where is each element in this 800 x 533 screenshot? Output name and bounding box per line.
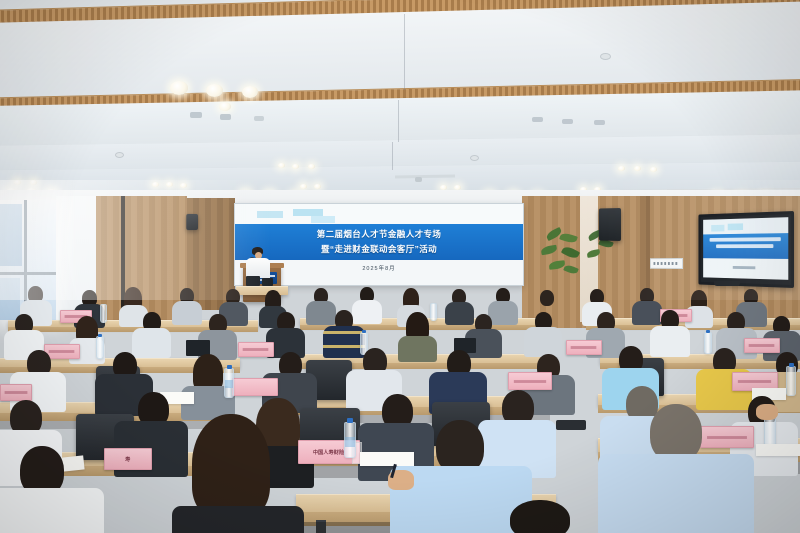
side-monitor-accent bbox=[711, 225, 724, 232]
water-bottle bbox=[96, 336, 104, 359]
desk-placard-text: 中国人寿财险 bbox=[313, 448, 344, 456]
ceiling-air-vent bbox=[254, 116, 264, 121]
ceiling-downlight bbox=[206, 84, 223, 97]
water-bottle bbox=[430, 303, 437, 321]
ceiling-downlight bbox=[30, 180, 37, 185]
back-table-monitor bbox=[262, 278, 273, 286]
window-frame bbox=[0, 272, 56, 275]
window-glass-tint bbox=[0, 204, 22, 266]
ceiling-downlight bbox=[170, 81, 188, 95]
ceiling-downlight bbox=[166, 182, 173, 187]
side-monitor-title-line2 bbox=[716, 244, 773, 248]
ceiling-downlight bbox=[152, 182, 159, 187]
ceiling-air-vent bbox=[220, 114, 231, 120]
desk-placard bbox=[238, 342, 274, 357]
smoke-detector-icon bbox=[115, 152, 124, 158]
side-monitor-accent bbox=[728, 223, 743, 230]
conference-room-photo: 第二届烟台人才节金融人才专场 暨“走进财金联动会客厅”活动 2025年8月 bbox=[0, 0, 800, 533]
back-table-monitor bbox=[246, 276, 260, 286]
ceiling-downlight bbox=[300, 184, 307, 189]
side-monitor-stand bbox=[714, 281, 740, 286]
screen-accent-block bbox=[257, 211, 283, 218]
ceiling-air-vent bbox=[594, 120, 605, 125]
wall-sign[interactable] bbox=[650, 258, 683, 269]
ceiling-air-vent bbox=[190, 112, 202, 118]
smoke-detector-icon bbox=[470, 155, 479, 161]
ceiling-seam-3 bbox=[392, 142, 393, 170]
desk-placard: 寿 bbox=[104, 448, 152, 470]
desk-placard bbox=[0, 384, 32, 401]
water-bottle bbox=[100, 304, 107, 323]
potted-plant-right bbox=[540, 228, 584, 290]
desk-placard bbox=[508, 372, 552, 390]
document-paper bbox=[360, 452, 414, 466]
ceiling-downlight bbox=[308, 164, 315, 169]
ceiling-downlight bbox=[180, 183, 187, 188]
document-paper bbox=[756, 444, 800, 456]
desk-placard bbox=[744, 338, 780, 353]
ceiling-downlight bbox=[618, 166, 625, 171]
desk-placard bbox=[232, 378, 278, 396]
wall-speaker-left bbox=[186, 214, 198, 230]
ceiling-downlight bbox=[219, 102, 231, 111]
desk-placard bbox=[700, 426, 754, 448]
smoke-detector-icon bbox=[600, 53, 611, 60]
presenter-body bbox=[246, 258, 270, 278]
side-monitor[interactable] bbox=[698, 211, 794, 288]
screen-title-band: 第二届烟台人才节金融人才专场 暨“走进财金联动会客厅”活动 bbox=[235, 224, 523, 260]
side-monitor-content bbox=[703, 217, 788, 280]
side-monitor-title-line1 bbox=[710, 237, 781, 242]
back-side-table bbox=[236, 286, 288, 295]
screen-title-line2: 暨“走进财金联动会客厅”活动 bbox=[235, 242, 523, 257]
screen-accent-block bbox=[311, 216, 335, 223]
water-bottle bbox=[786, 366, 796, 396]
ceiling-downlight bbox=[292, 164, 299, 169]
screen-accent-block bbox=[293, 209, 323, 216]
projector-nozzle bbox=[415, 177, 422, 182]
wall-sign-text bbox=[654, 262, 680, 265]
ceiling-downlight bbox=[14, 180, 21, 185]
chair-armrest bbox=[556, 420, 586, 430]
ceiling-air-vent bbox=[532, 117, 543, 122]
water-bottle bbox=[704, 332, 712, 354]
ceiling-air-vent bbox=[562, 119, 573, 124]
ceiling-downlight bbox=[242, 86, 258, 98]
water-bottle bbox=[344, 422, 356, 458]
water-bottle bbox=[224, 368, 234, 398]
ceiling-seam-1 bbox=[404, 14, 405, 90]
screen-title-line1: 第二届烟台人才节金融人才专场 bbox=[235, 227, 523, 242]
ceiling-downlight bbox=[314, 184, 321, 189]
wall-speaker-right bbox=[599, 208, 621, 241]
ceiling-seam-2 bbox=[398, 100, 399, 142]
ceiling-downlight bbox=[650, 167, 657, 172]
window-glass-tint bbox=[0, 278, 20, 320]
desk-placard-text: 寿 bbox=[125, 455, 130, 463]
ceiling-downlight bbox=[278, 163, 285, 168]
side-monitor-date bbox=[703, 265, 788, 269]
side-monitor-title-band bbox=[703, 233, 788, 259]
desk-placard bbox=[566, 340, 602, 355]
ceiling-downlight bbox=[634, 166, 641, 171]
hand bbox=[756, 404, 778, 420]
